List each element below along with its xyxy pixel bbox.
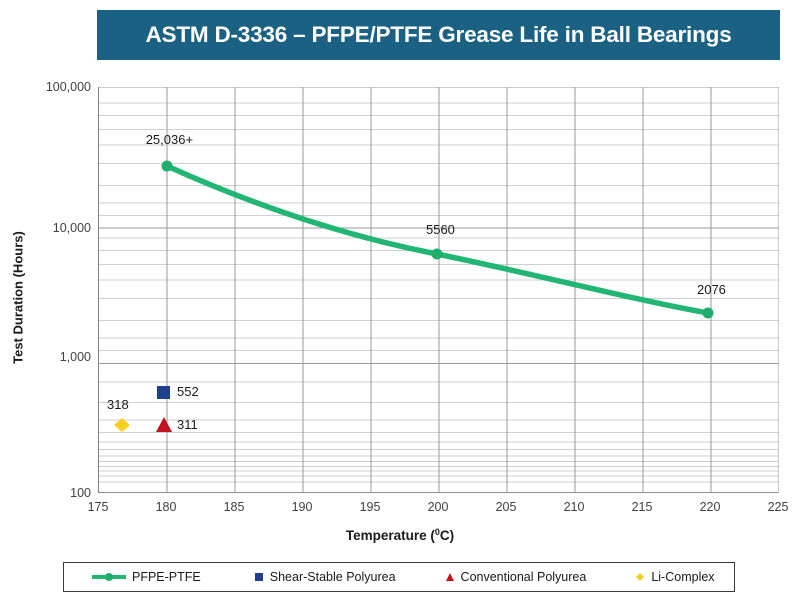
legend-label-shear-stable-polyurea: Shear-Stable Polyurea [270,570,396,584]
plot-svg [99,87,779,493]
series-line-pfpe-ptfe [167,166,708,313]
plot-area: 25,036+ 5560 2076 552 311 318 [98,87,778,493]
legend-item-shear-stable-polyurea[interactable]: Shear-Stable Polyurea [253,570,396,584]
label-5560: 5560 [426,222,455,237]
data-point-311 [156,417,172,432]
y-tick-1000: 1,000 [60,350,98,364]
x-tick-205: 205 [496,500,517,514]
x-axis-title: Temperature (0C) [0,527,800,543]
legend-item-li-complex[interactable]: Li-Complex [634,570,714,584]
legend-item-pfpe-ptfe[interactable]: PFPE-PTFE [91,570,201,584]
chart-page: ASTM D-3336 – PFPE/PTFE Grease Life in B… [0,0,800,597]
legend-label-conventional-polyurea: Conventional Polyurea [461,570,587,584]
square-marker-icon [253,571,265,583]
chart-title: ASTM D-3336 – PFPE/PTFE Grease Life in B… [145,22,731,48]
label-2076: 2076 [697,282,726,297]
data-point-5560 [432,249,443,260]
y-tick-100000: 100,000 [46,80,98,94]
label-318: 318 [107,397,129,412]
legend-label-pfpe-ptfe: PFPE-PTFE [132,570,201,584]
x-tick-175: 175 [88,500,109,514]
x-axis-title-main: Temperature ( [346,528,435,543]
data-point-552 [157,386,170,399]
x-tick-180: 180 [156,500,177,514]
line-marker-icon [91,571,127,583]
y-tick-10000: 10,000 [53,221,98,235]
x-axis-title-end: C) [440,528,454,543]
label-311: 311 [177,417,198,432]
chart-title-banner: ASTM D-3336 – PFPE/PTFE Grease Life in B… [97,10,780,60]
chart-legend: PFPE-PTFE Shear-Stable Polyurea Conventi… [63,562,735,592]
x-tick-215: 215 [632,500,653,514]
label-552: 552 [177,384,199,399]
data-point-25036 [162,161,173,172]
diamond-marker-icon [634,571,646,583]
legend-item-conventional-polyurea[interactable]: Conventional Polyurea [444,570,587,584]
data-point-2076 [703,308,714,319]
x-tick-190: 190 [292,500,313,514]
x-tick-220: 220 [700,500,721,514]
x-tick-200: 200 [428,500,449,514]
legend-label-li-complex: Li-Complex [651,570,714,584]
y-tick-100: 100 [70,486,98,500]
x-tick-225: 225 [768,500,789,514]
x-tick-195: 195 [360,500,381,514]
x-tick-185: 185 [224,500,245,514]
x-tick-210: 210 [564,500,585,514]
triangle-marker-icon [444,571,456,583]
y-axis-title: Test Duration (Hours) [11,188,26,408]
label-25036: 25,036+ [146,132,193,147]
